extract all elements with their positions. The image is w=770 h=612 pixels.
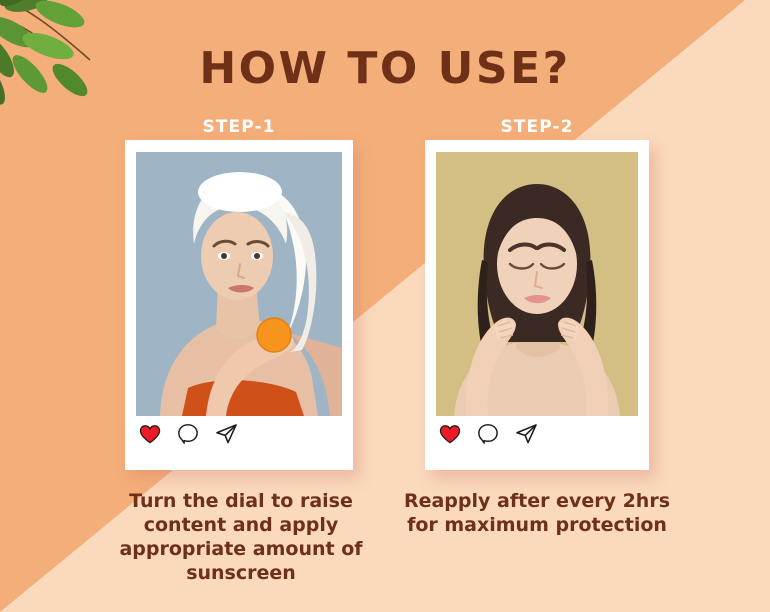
poster-canvas: HOW TO USE? STEP-1 [0, 0, 770, 612]
comment-icon[interactable] [477, 423, 499, 444]
heart-icon[interactable] [139, 424, 161, 444]
heart-icon[interactable] [439, 424, 461, 444]
comment-icon[interactable] [177, 423, 199, 444]
social-actions-1[interactable] [139, 423, 238, 444]
social-actions-2[interactable] [439, 423, 538, 444]
step-card-2[interactable] [425, 140, 649, 470]
step-caption-2: Reapply after every 2hrs for maximum pro… [398, 490, 676, 538]
step-card-1[interactable] [125, 140, 353, 470]
step-photo-2 [436, 152, 638, 416]
step-label-2: STEP-2 [425, 117, 649, 137]
share-icon[interactable] [215, 423, 238, 444]
page-title: HOW TO USE? [0, 43, 770, 94]
share-icon[interactable] [515, 423, 538, 444]
step-caption-1: Turn the dial to raise content and apply… [96, 490, 386, 586]
step-photo-1 [136, 152, 342, 416]
step-label-1: STEP-1 [125, 117, 353, 137]
